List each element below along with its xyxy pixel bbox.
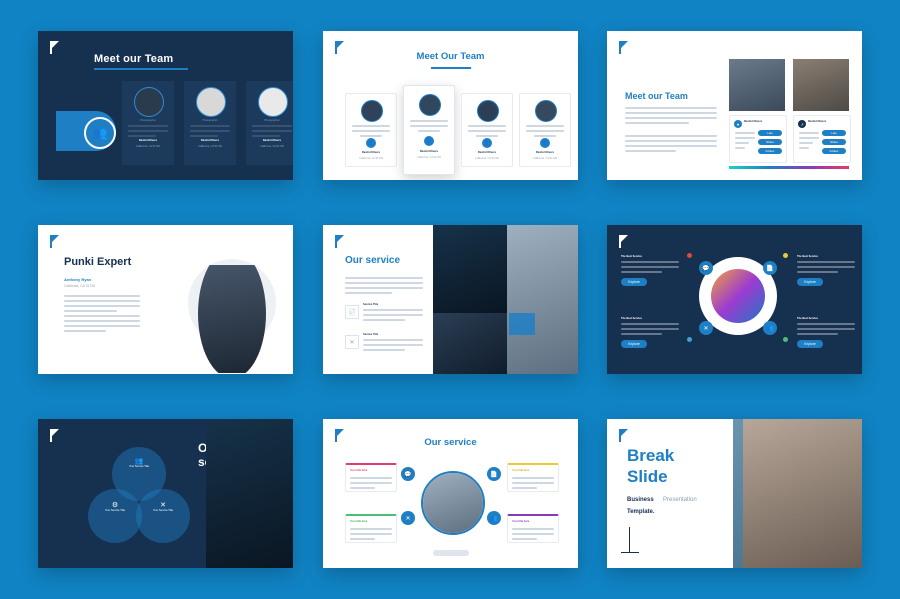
profile-card[interactable]: Rashid Olivers ↗ Like Share Follow xyxy=(793,115,851,163)
member-location: California, CA 91706 xyxy=(350,157,392,160)
slide-5-title: Our service xyxy=(345,255,400,266)
slide-9[interactable]: Break Slide Business Presentation Templa… xyxy=(607,419,862,568)
list-item[interactable]: 👤 Rashid Olivers California, CA 91706 xyxy=(461,93,513,167)
bubble-label: ✕ Your Service Title xyxy=(152,501,174,512)
list-item[interactable]: 👤 Rashid Olivers California, CA 91706 xyxy=(345,93,397,167)
member-location: California, CA 91706 xyxy=(524,157,566,160)
slide-8-title: Our service xyxy=(323,437,578,448)
member-location: California, CA 91706 xyxy=(466,157,508,160)
center-photo xyxy=(421,471,485,535)
card-title: Your title here xyxy=(350,469,367,472)
service-card[interactable]: Your title here xyxy=(507,514,559,543)
member-name: Rashid Olivers xyxy=(808,120,826,123)
card-title: Your title here xyxy=(512,520,529,523)
member-role: Photographer xyxy=(252,119,292,122)
user-icon: 👤 xyxy=(366,138,376,148)
slide-5-body xyxy=(345,277,423,297)
slide-9-subtitle-light: Presentation xyxy=(663,497,697,503)
slide-2[interactable]: Meet Our Team 👤 Rashid Olivers Californi… xyxy=(323,31,578,180)
table-row[interactable]: Rashid Olivers California, CA 91706 Phot… xyxy=(184,81,236,165)
divider xyxy=(621,552,639,553)
explore-button[interactable]: Explore xyxy=(621,340,647,348)
panel-title: The Best Service xyxy=(621,317,679,320)
explore-button[interactable]: Explore xyxy=(797,278,823,286)
table-row[interactable]: Rashid Olivers California, CA 91706 Phot… xyxy=(122,81,174,165)
slide-9-subtitle-line2: Template. xyxy=(627,509,655,515)
close-icon: ✕ xyxy=(345,335,359,349)
people-icon: 👥 xyxy=(84,117,116,149)
member-location: California, CA 91706 xyxy=(190,145,230,148)
member-name: Rashid Olivers xyxy=(190,139,230,142)
explore-button[interactable]: Explore xyxy=(621,278,647,286)
close-icon[interactable]: ✕ xyxy=(401,511,415,525)
slide-4-title: Punki Expert xyxy=(64,256,131,268)
bubble-label: ⚙ Your Service Title xyxy=(104,501,126,512)
panel-title: The Best Service xyxy=(621,255,679,258)
dot-blue xyxy=(687,337,692,342)
panel[interactable]: The Best Service Explore xyxy=(797,255,855,286)
venue-photo xyxy=(507,225,578,374)
slide-3[interactable]: Meet our Team Rashid Olivers ♥ Like Shar… xyxy=(607,31,862,180)
crowd-photo xyxy=(433,313,507,374)
person-location: California, CA 91706 xyxy=(64,284,95,288)
member-name: Rashid Olivers xyxy=(744,120,762,123)
service-card[interactable]: Your title here xyxy=(507,463,559,492)
slide-9-subtitle-strong: Business xyxy=(627,497,654,503)
follow-button[interactable]: Follow xyxy=(822,148,846,154)
people-icon[interactable]: 👥 xyxy=(763,321,777,335)
bubble-label: 👥 Your Service Title xyxy=(128,457,150,468)
slide-1[interactable]: Meet our Team 👥 Rashid Olivers Californi… xyxy=(38,31,293,180)
slide-deck-board: Meet our Team 👥 Rashid Olivers Californi… xyxy=(0,0,900,599)
chat-icon[interactable]: 💬 xyxy=(401,467,415,481)
member-name: Rashid Olivers xyxy=(408,150,450,153)
accent-block xyxy=(509,313,535,335)
service-card[interactable]: Your title here xyxy=(345,463,397,492)
people-icon[interactable]: 👥 xyxy=(487,511,501,525)
title-underline xyxy=(431,67,471,69)
member-location: California, CA 91706 xyxy=(408,156,450,159)
member-name: Rashid Olivers xyxy=(524,151,566,154)
dot-green xyxy=(783,337,788,342)
document-icon: 📄 xyxy=(345,305,359,319)
accent-strip xyxy=(733,419,743,568)
gradient-bar xyxy=(729,166,849,169)
slide-9-title-line2: Slide xyxy=(627,467,668,487)
share-button[interactable]: Share xyxy=(758,139,782,145)
document-icon[interactable]: 📄 xyxy=(487,467,501,481)
user-icon: 👤 xyxy=(482,138,492,148)
person-name: Anthony Ryan xyxy=(64,277,91,282)
speaker-photo xyxy=(206,419,293,568)
document-icon[interactable]: 📄 xyxy=(763,261,777,275)
heart-icon[interactable]: ♥ xyxy=(734,120,742,128)
user-icon: 👤 xyxy=(424,136,434,146)
explore-button[interactable]: Explore xyxy=(797,340,823,348)
table-row[interactable]: Rashid Olivers California, CA 91706 Phot… xyxy=(246,81,293,165)
slide-1-title: Meet our Team xyxy=(94,53,173,65)
slide-6[interactable]: 💬 📄 ✕ 👥 The Best Service Explore The Bes… xyxy=(607,225,862,374)
member-role: Photographer xyxy=(128,119,168,122)
slide-4[interactable]: Punki Expert Anthony Ryan California, CA… xyxy=(38,225,293,374)
panel-title: The Best Service xyxy=(797,255,855,258)
scroll-indicator[interactable] xyxy=(433,550,469,556)
service-title: Service Title xyxy=(363,303,423,306)
member-location: California, CA 91706 xyxy=(252,145,292,148)
dot-red xyxy=(687,253,692,258)
team-photo xyxy=(733,419,862,568)
divider xyxy=(629,527,630,553)
member-name: Rashid Olivers xyxy=(350,151,392,154)
close-icon[interactable]: ✕ xyxy=(699,321,713,335)
slide-2-title: Meet Our Team xyxy=(323,51,578,62)
panel[interactable]: The Best Service Explore xyxy=(621,317,679,348)
slide-8[interactable]: Our service Your title here 💬 Your title… xyxy=(323,419,578,568)
user-icon: 👤 xyxy=(540,138,550,148)
list-item[interactable]: 👤 Rashid Olivers California, CA 91706 xyxy=(519,93,571,167)
slide-5[interactable]: Our service 📄 Service Title ✕ Service Ti… xyxy=(323,225,578,374)
service-item[interactable]: 📄 Service Title xyxy=(345,303,423,324)
center-image xyxy=(711,269,765,323)
slide-9-title-line1: Break xyxy=(627,446,674,466)
like-button[interactable]: Like xyxy=(758,130,782,136)
chat-icon[interactable]: 💬 xyxy=(699,261,713,275)
title-underline xyxy=(94,68,188,70)
card-title: Your title here xyxy=(512,469,529,472)
slide-7[interactable]: Our service 👥 Your Service Title ⚙ Your … xyxy=(38,419,293,568)
slide-3-title: Meet our Team xyxy=(625,91,688,101)
close-icon: ✕ xyxy=(152,501,174,509)
panel[interactable]: The Best Service Explore xyxy=(621,255,679,286)
venn-circle xyxy=(88,489,142,543)
person-photo xyxy=(198,265,266,373)
share-button[interactable]: Share xyxy=(822,139,846,145)
slide-4-body xyxy=(64,295,140,315)
share-icon[interactable]: ↗ xyxy=(798,120,806,128)
dot-yellow xyxy=(783,253,788,258)
card-title: Your title here xyxy=(350,520,367,523)
service-title: Service Title xyxy=(363,333,423,336)
member-name: Rashid Olivers xyxy=(252,139,292,142)
profile-photo xyxy=(729,59,785,111)
profile-photo xyxy=(793,59,849,111)
profile-card[interactable]: Rashid Olivers ♥ Like Share Follow xyxy=(729,115,787,163)
member-name: Rashid Olivers xyxy=(466,151,508,154)
stage-photo xyxy=(433,225,507,313)
member-location: California, CA 91706 xyxy=(128,145,168,148)
like-button[interactable]: Like xyxy=(822,130,846,136)
member-role: Photographer xyxy=(190,119,230,122)
panel-title: The Best Service xyxy=(797,317,855,320)
service-card[interactable]: Your title here xyxy=(345,514,397,543)
follow-button[interactable]: Follow xyxy=(758,148,782,154)
panel[interactable]: The Best Service Explore xyxy=(797,317,855,348)
member-name: Rashid Olivers xyxy=(128,139,168,142)
people-icon: 👥 xyxy=(128,457,150,465)
slide-3-body xyxy=(625,107,717,127)
service-item[interactable]: ✕ Service Title xyxy=(345,333,423,354)
venn-circle xyxy=(136,489,190,543)
settings-icon: ⚙ xyxy=(104,501,126,509)
list-item[interactable]: 👤 Rashid Olivers California, CA 91706 xyxy=(403,85,455,175)
